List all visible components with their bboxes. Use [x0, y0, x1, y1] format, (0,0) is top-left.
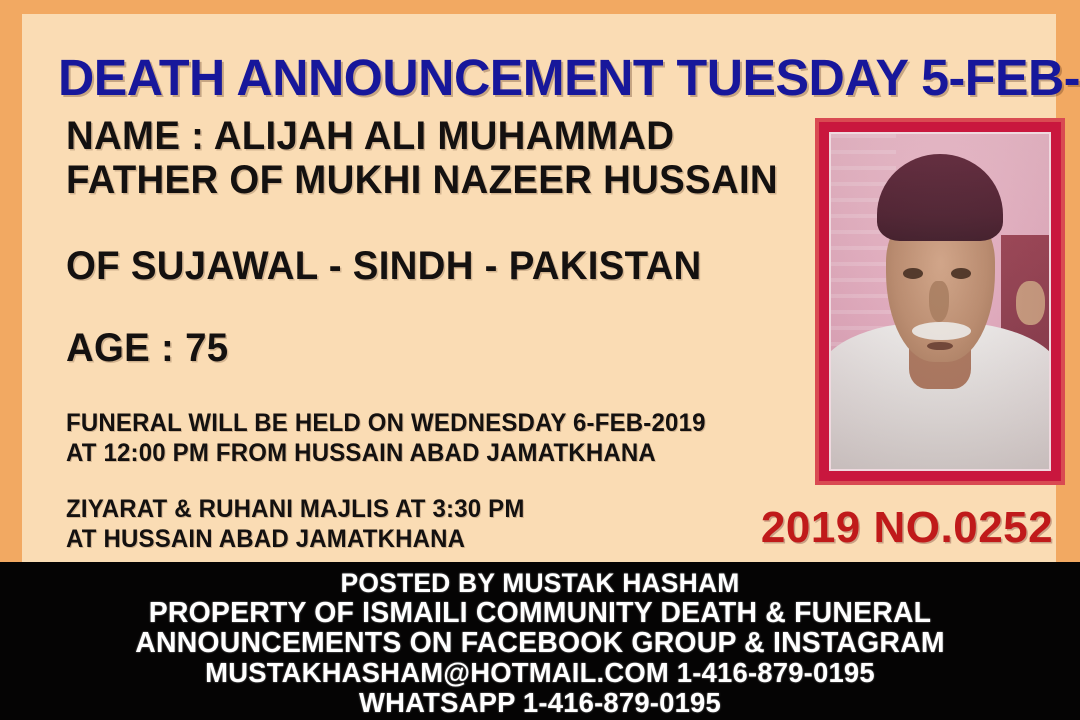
announcement-serial-number: 2019 NO.0252 — [742, 504, 1072, 552]
portrait-photo — [829, 132, 1051, 471]
death-announcement-poster: DEATH ANNOUNCEMENT TUESDAY 5-FEB-2019 NA… — [0, 0, 1080, 720]
announcement-details: NAME : ALIJAH ALI MUHAMMAD FATHER OF MUK… — [66, 114, 786, 554]
spacer-after-name — [66, 202, 786, 244]
spacer-after-location — [66, 288, 786, 326]
footer-channels: ANNOUNCEMENTS ON FACEBOOK GROUP & INSTAG… — [11, 628, 1069, 658]
ziyarat-line-2: AT HUSSAIN ABAD JAMATKHANA — [66, 524, 757, 554]
deceased-name-line: NAME : ALIJAH ALI MUHAMMAD — [66, 114, 757, 158]
page-title: DEATH ANNOUNCEMENT TUESDAY 5-FEB-2019 — [58, 50, 1053, 106]
spacer-after-age — [66, 370, 786, 408]
footer-email-phone: MUSTAKHASHAM@HOTMAIL.COM 1-416-879-0195 — [11, 658, 1069, 688]
location-line: OF SUJAWAL - SINDH - PAKISTAN — [66, 244, 757, 288]
spacer-after-funeral — [66, 468, 786, 494]
poster-panel: DEATH ANNOUNCEMENT TUESDAY 5-FEB-2019 NA… — [22, 14, 1056, 562]
footer-property-of: PROPERTY OF ISMAILI COMMUNITY DEATH & FU… — [11, 598, 1069, 628]
funeral-line-1: FUNERAL WILL BE HELD ON WEDNESDAY 6-FEB-… — [66, 408, 757, 438]
photo-vignette — [831, 134, 1049, 469]
footer-banner: POSTED BY MUSTAK HASHAM PROPERTY OF ISMA… — [0, 562, 1080, 720]
footer-whatsapp: WHATSAPP 1-416-879-0195 — [11, 688, 1069, 718]
footer-posted-by: POSTED BY MUSTAK HASHAM — [11, 568, 1069, 598]
funeral-line-2: AT 12:00 PM FROM HUSSAIN ABAD JAMATKHANA — [66, 438, 757, 468]
age-line: AGE : 75 — [66, 326, 757, 370]
portrait-frame — [815, 118, 1065, 485]
ziyarat-line-1: ZIYARAT & RUHANI MAJLIS AT 3:30 PM — [66, 494, 757, 524]
relation-line: FATHER OF MUKHI NAZEER HUSSAIN — [66, 158, 757, 202]
